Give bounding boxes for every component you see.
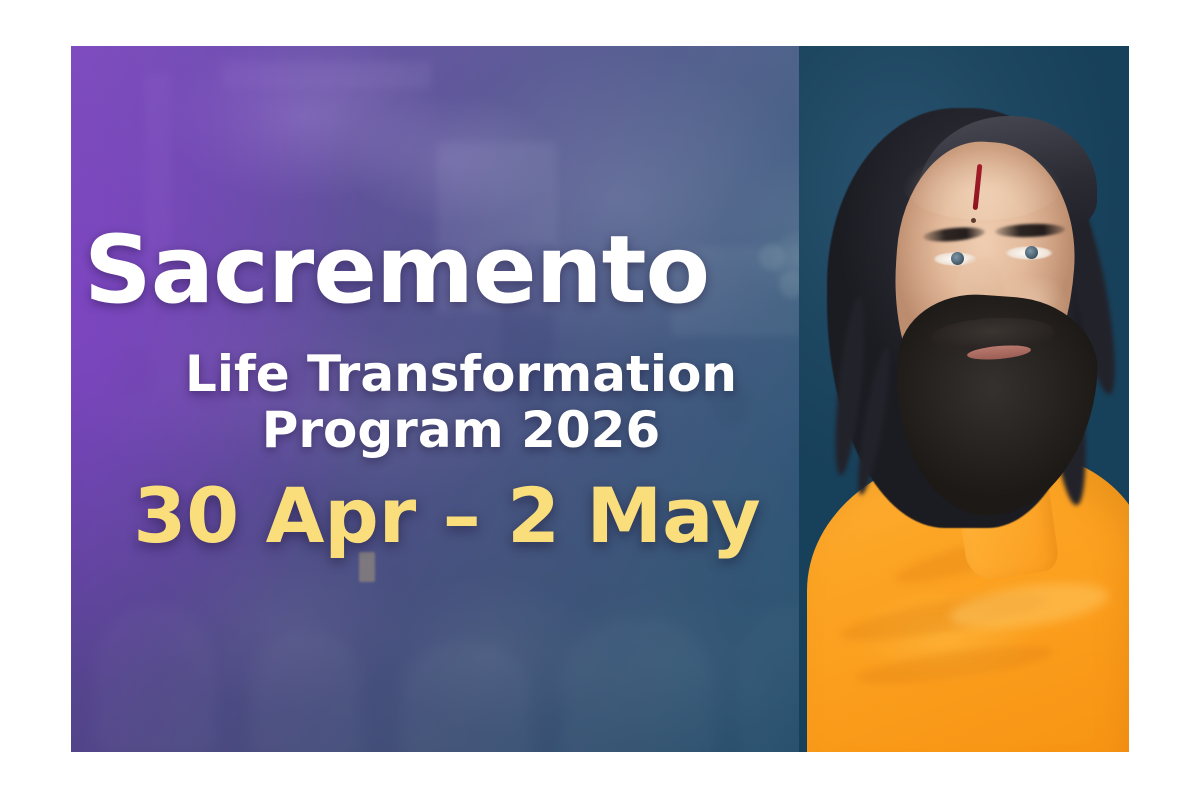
event-banner: Sacremento Life Transformation Program 2… (71, 46, 1129, 752)
poster-page: Sacremento Life Transformation Program 2… (0, 0, 1200, 800)
speaker-portrait (799, 46, 1129, 752)
forehead (903, 150, 1063, 220)
iris-right (1025, 246, 1038, 259)
forehead-mole (971, 218, 976, 223)
iris-left (951, 252, 964, 265)
